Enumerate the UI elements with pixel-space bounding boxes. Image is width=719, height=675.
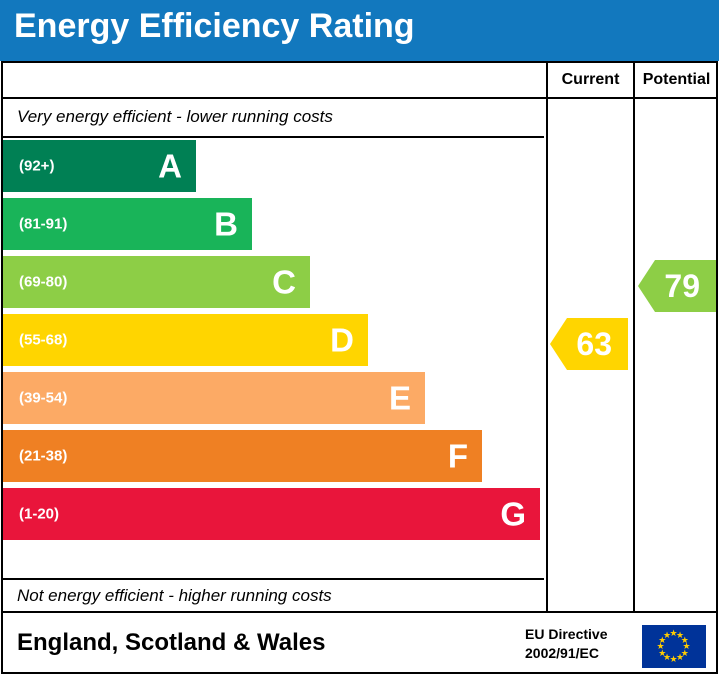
- divider-potential: [633, 97, 635, 611]
- band-letter-e: E: [389, 382, 411, 415]
- band-bar-d: (55-68) D: [3, 314, 368, 366]
- column-header-potential-label: Potential: [643, 71, 711, 89]
- band-range-a: (92+): [19, 158, 54, 175]
- band-range-d: (55-68): [19, 332, 67, 349]
- band-bar-b: (81-91) B: [3, 198, 252, 250]
- band-bar-e: (39-54) E: [3, 372, 425, 424]
- column-header-current: Current: [546, 63, 633, 97]
- band-letter-c: C: [272, 266, 296, 299]
- eu-star-icon: ★: [663, 631, 671, 640]
- band-bar-f: (21-38) F: [3, 430, 482, 482]
- eu-directive-text: EU Directive 2002/91/EC: [525, 625, 607, 663]
- caption-bottom-rule: [3, 578, 544, 580]
- band-letter-b: B: [214, 208, 238, 241]
- band-bar-g: (1-20) G: [3, 488, 540, 540]
- chart-footer: England, Scotland & Wales EU Directive 2…: [1, 613, 718, 674]
- band-letter-g: G: [500, 498, 526, 531]
- band-letter-d: D: [330, 324, 354, 357]
- chart-frame: Current Potential Very energy efficient …: [1, 61, 718, 613]
- eu-directive-line2: 2002/91/EC: [525, 644, 607, 663]
- band-letter-f: F: [448, 440, 468, 473]
- eu-directive-line1: EU Directive: [525, 625, 607, 644]
- band-range-b: (81-91): [19, 216, 67, 233]
- current-rating-value: 63: [576, 328, 628, 360]
- current-rating-arrow: 63: [550, 318, 628, 370]
- band-bar-c: (69-80) C: [3, 256, 310, 308]
- potential-rating-arrow: 79: [638, 260, 716, 312]
- caption-top: Very energy efficient - lower running co…: [17, 107, 333, 127]
- potential-rating-value: 79: [664, 270, 716, 302]
- band-bars: (92+) A (81-91) B (69-80) C (55-68) D (3…: [3, 136, 544, 578]
- band-bar-a: (92+) A: [3, 140, 196, 192]
- energy-efficiency-rating-chart: Energy Efficiency Rating Current Potenti…: [0, 0, 719, 675]
- column-header-potential: Potential: [633, 63, 718, 97]
- band-letter-a: A: [158, 150, 182, 183]
- band-range-e: (39-54): [19, 390, 67, 407]
- column-header-current-label: Current: [562, 71, 620, 89]
- caption-bottom: Not energy efficient - higher running co…: [17, 586, 332, 606]
- eu-flag-icon: ★★★★★★★★★★★★: [642, 625, 706, 668]
- band-range-g: (1-20): [19, 506, 59, 523]
- divider-current: [546, 97, 548, 611]
- page-title: Energy Efficiency Rating: [14, 7, 415, 46]
- footer-region-label: England, Scotland & Wales: [17, 629, 325, 657]
- band-range-f: (21-38): [19, 448, 67, 465]
- title-bar: Energy Efficiency Rating: [0, 0, 719, 61]
- column-header-row: Current Potential: [3, 63, 716, 99]
- band-range-c: (69-80): [19, 274, 67, 291]
